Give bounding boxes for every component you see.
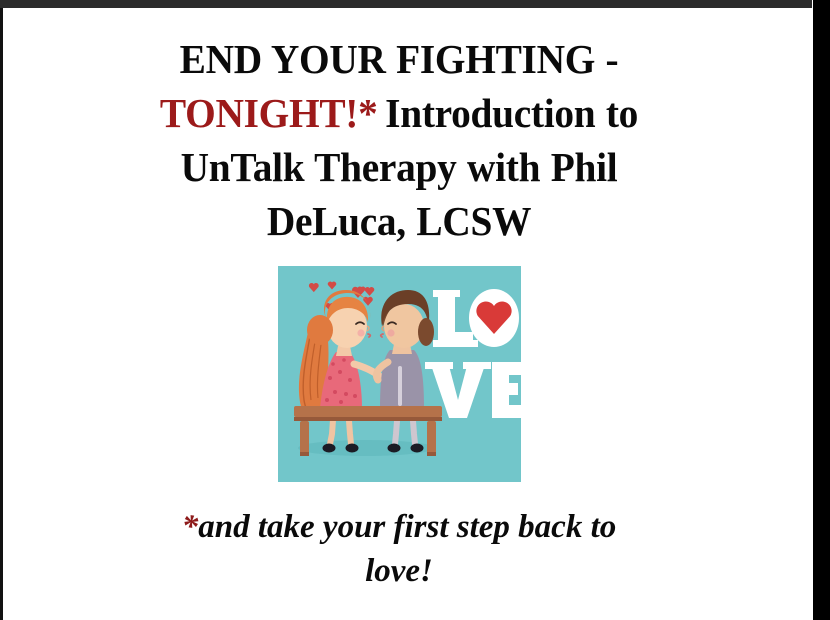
title-line-3: UnTalk Therapy with Phil xyxy=(73,140,726,194)
title-accent-tonight: TONIGHT!* xyxy=(160,90,378,136)
title-line-2-rest: Introduction to xyxy=(385,90,638,136)
slide-title: END YOUR FIGHTING - TONIGHT!*Introductio… xyxy=(73,32,726,248)
boy-shoe-left xyxy=(387,444,400,453)
title-line-1: END YOUR FIGHTING - xyxy=(73,32,726,86)
letter-E xyxy=(492,362,521,418)
boy-shoe-right xyxy=(410,444,423,453)
love-illustration-svg xyxy=(278,266,521,482)
girl-shoe-left xyxy=(322,444,335,453)
caption-line-2: love! xyxy=(69,550,729,594)
girl-ponytail xyxy=(307,315,333,345)
window-right-bar xyxy=(813,0,830,620)
title-line-4: DeLuca, LCSW xyxy=(73,194,726,248)
slide-caption: *and take your first step back to love! xyxy=(69,506,729,594)
slide-content: END YOUR FIGHTING - TONIGHT!*Introductio… xyxy=(3,8,795,620)
caption-asterisk: * xyxy=(182,509,199,545)
boy-head xyxy=(384,304,424,348)
girl-shoe-right xyxy=(345,444,358,453)
love-illustration xyxy=(278,266,521,482)
presentation-slide: END YOUR FIGHTING - TONIGHT!*Introductio… xyxy=(0,0,830,620)
window-top-bar xyxy=(0,0,812,8)
title-line-2: TONIGHT!*Introduction to xyxy=(73,86,726,140)
caption-line-1-text: and take your first step back to xyxy=(198,509,616,545)
caption-line-1: *and take your first step back to xyxy=(69,506,729,550)
